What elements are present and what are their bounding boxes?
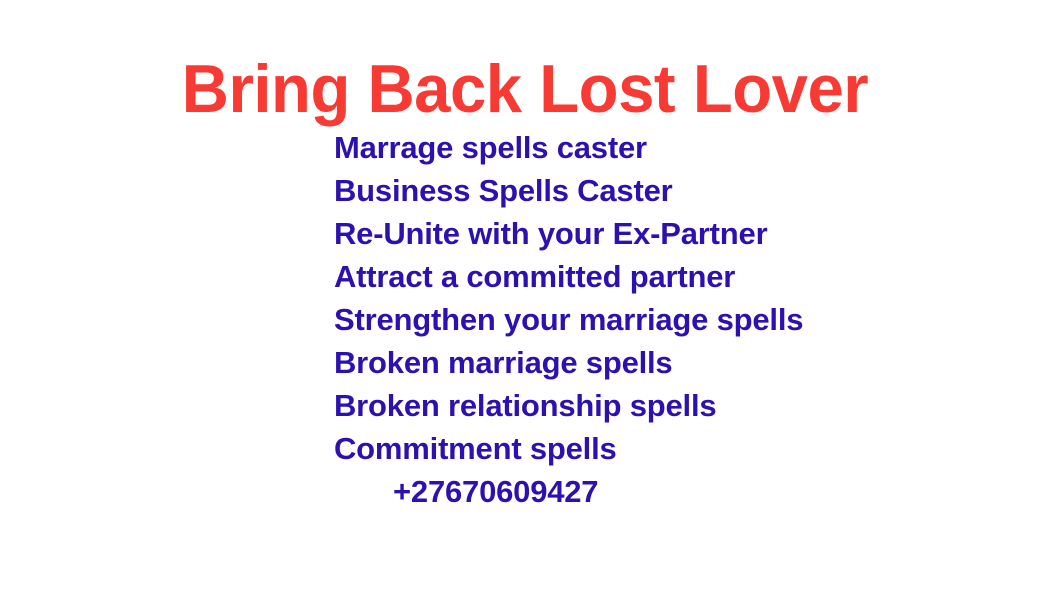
- service-label: Commitment spells: [334, 431, 617, 466]
- service-label: Business Spells Caster: [334, 173, 672, 208]
- list-item: Marrage spells caster: [334, 126, 934, 169]
- phone-number[interactable]: +27670609427: [393, 470, 598, 513]
- page-title: Bring Back Lost Lover: [21, 50, 1029, 128]
- service-label: Strengthen your marriage spells: [334, 302, 803, 337]
- service-label: Attract a committed partner: [334, 259, 735, 294]
- services-list: Marrage spells caster Business Spells Ca…: [334, 126, 934, 470]
- service-label: Marrage spells caster: [334, 130, 647, 165]
- list-item: Broken marriage spells: [334, 341, 934, 384]
- list-item: Broken relationship spells: [334, 384, 934, 427]
- service-label: Broken marriage spells: [334, 345, 672, 380]
- list-item: Business Spells Caster: [334, 169, 934, 212]
- service-label: Broken relationship spells: [334, 388, 716, 423]
- service-label: Re-Unite with your Ex-Partner: [334, 216, 767, 251]
- list-item: Commitment spells: [334, 427, 934, 470]
- list-item: Re-Unite with your Ex-Partner: [334, 212, 934, 255]
- list-item: Strengthen your marriage spells: [334, 298, 934, 341]
- list-item: Attract a committed partner: [334, 255, 934, 298]
- poster-canvas: Bring Back Lost Lover Marrage spells cas…: [0, 0, 1050, 600]
